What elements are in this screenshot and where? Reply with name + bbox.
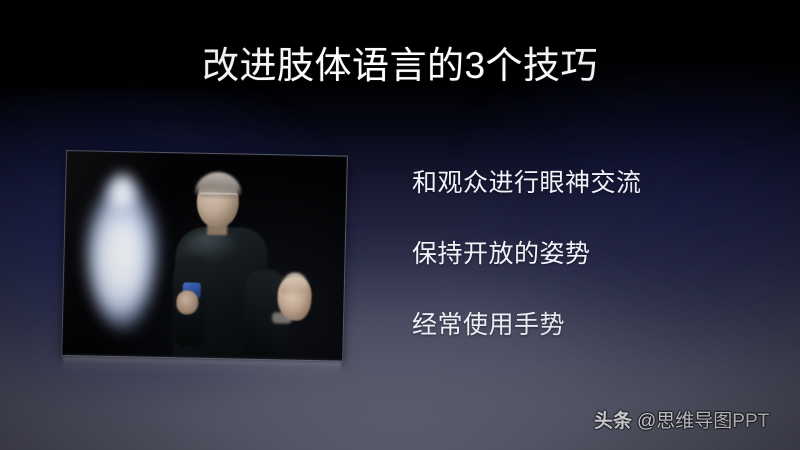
bullet-item-3: 经常使用手势 — [412, 310, 742, 381]
speaker-left-hand — [176, 290, 199, 314]
watermark-handle: @思维导图PPT — [637, 410, 769, 434]
speaker-figure — [171, 170, 325, 359]
photo-stage-background — [63, 152, 346, 360]
bullet-item-1: 和观众进行眼神交流 — [412, 168, 742, 239]
photo-frame — [61, 150, 348, 362]
speaker-right-fingers — [281, 272, 310, 299]
watermark: 头条 @思维导图PPT — [594, 410, 769, 434]
glasses-icon — [199, 193, 238, 204]
slide-title: 改进肢体语言的3个技巧 — [0, 44, 800, 88]
bullet-list: 和观众进行眼神交流 保持开放的姿势 经常使用手势 — [412, 168, 742, 381]
presentation-slide: 改进肢体语言的3个技巧 — [0, 0, 800, 450]
bullet-item-2: 保持开放的姿势 — [412, 239, 742, 310]
watermark-brand: 头条 — [594, 410, 632, 434]
speaker-photo — [61, 150, 348, 362]
